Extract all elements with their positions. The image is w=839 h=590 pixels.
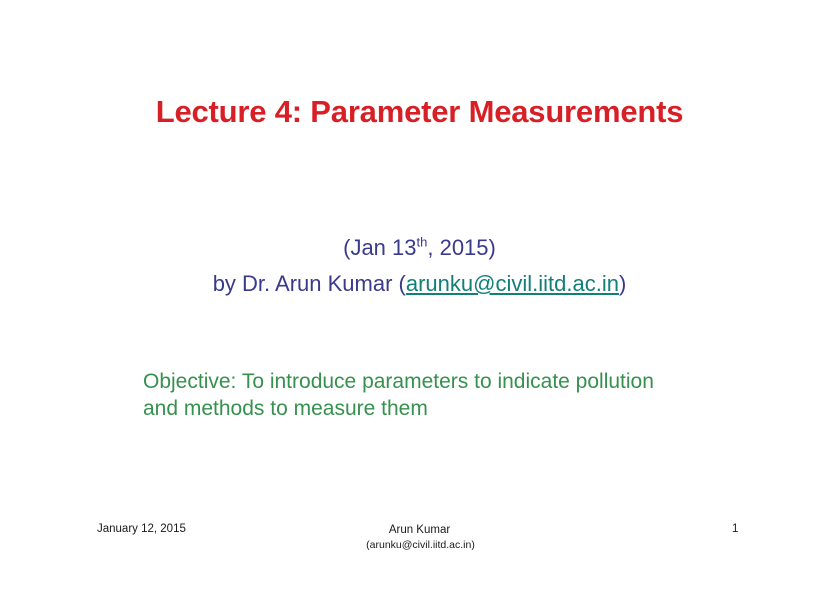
slide-footer: January 12, 2015 Arun Kumar (arunku@civi… <box>0 521 839 567</box>
slide-subtitle-block: (Jan 13th, 2015) by Dr. Arun Kumar (arun… <box>0 233 839 300</box>
footer-author-name: Arun Kumar <box>0 523 839 538</box>
lecture-date-superscript: th <box>417 235 428 250</box>
footer-author-email: (arunku@civil.iitd.ac.in) <box>2 538 839 553</box>
footer-page-number: 1 <box>732 523 738 535</box>
lecture-date-suffix: , 2015) <box>427 235 496 260</box>
author-line: by Dr. Arun Kumar (arunku@civil.iitd.ac.… <box>0 268 839 300</box>
author-suffix: ) <box>619 271 626 296</box>
objective-text: Objective: To introduce parameters to in… <box>143 368 673 422</box>
author-email-link[interactable]: arunku@civil.iitd.ac.in <box>406 271 619 296</box>
footer-center-block: Arun Kumar (arunku@civil.iitd.ac.in) <box>0 523 839 553</box>
lecture-date-prefix: (Jan 13 <box>343 235 416 260</box>
slide-title: Lecture 4: Parameter Measurements <box>0 94 839 130</box>
author-prefix: by Dr. Arun Kumar ( <box>213 271 406 296</box>
presentation-slide: Lecture 4: Parameter Measurements (Jan 1… <box>0 0 839 590</box>
lecture-date-line: (Jan 13th, 2015) <box>0 233 839 263</box>
